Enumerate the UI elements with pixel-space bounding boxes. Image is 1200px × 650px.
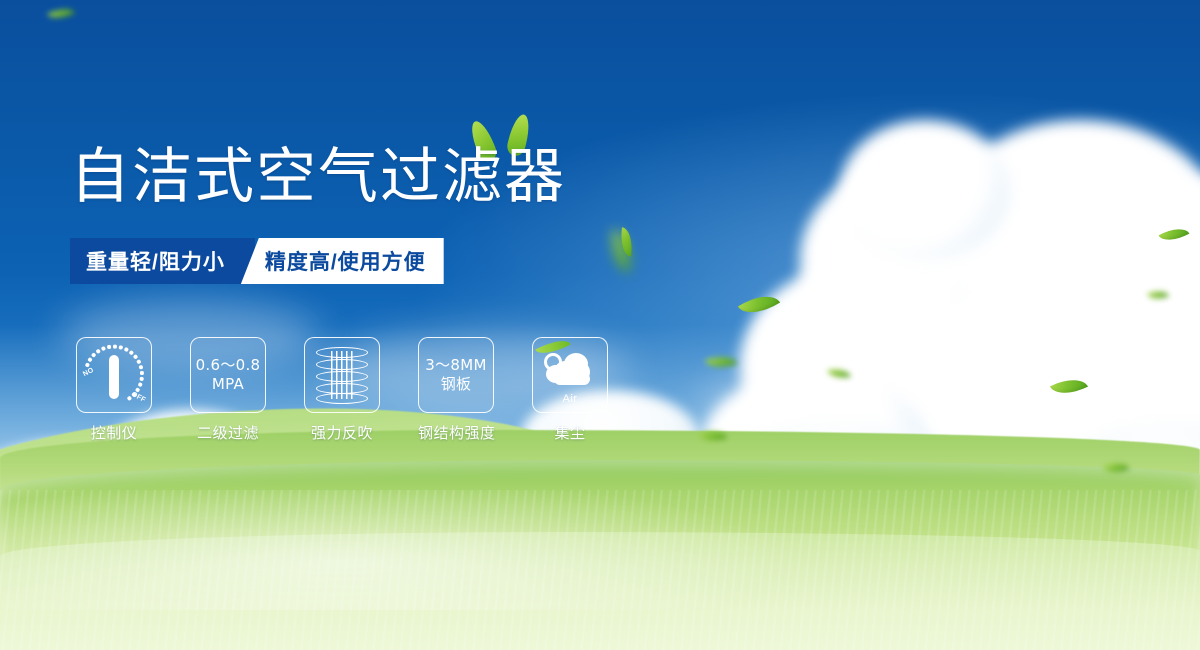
grass-highlight [0, 490, 1200, 610]
feature-item-controller[interactable]: NO OFF 控制仪 [76, 337, 152, 443]
pressure-value: 0.6～0.8 [196, 356, 261, 375]
steel-plate-text-icon: 3～8MM 钢板 [425, 356, 486, 394]
page-title: 自洁式空气过滤器 [70, 143, 566, 211]
feature-icon-box: NO OFF [76, 337, 152, 413]
air-label: Air [540, 393, 600, 405]
feature-icon-box: Air [532, 337, 608, 413]
dial-off-label: OFF [130, 391, 146, 404]
coil-filter-icon [314, 345, 370, 405]
feature-icon-row: NO OFF 控制仪 0.6～0.8 MPA 二级过滤 [76, 337, 608, 443]
pressure-unit: MPA [196, 375, 261, 394]
tag-weight-resistance: 重量轻/阻力小 [70, 238, 255, 284]
feature-label: 强力反吹 [304, 422, 380, 443]
feature-item-dust-collection[interactable]: Air 集尘 [532, 337, 608, 443]
feature-icon-box: 3～8MM 钢板 [418, 337, 494, 413]
feature-label: 控制仪 [76, 422, 152, 443]
tag-precision-usability: 精度高/使用方便 [241, 238, 444, 284]
dial-on-label: NO [82, 367, 95, 378]
steel-thickness: 3～8MM [425, 356, 486, 375]
feature-label: 二级过滤 [190, 422, 266, 443]
feature-item-backblow[interactable]: 强力反吹 [304, 337, 380, 443]
dial-needle [109, 355, 119, 399]
feature-item-two-stage-filter[interactable]: 0.6～0.8 MPA 二级过滤 [190, 337, 266, 443]
feature-icon-box: 0.6～0.8 MPA [190, 337, 266, 413]
control-dial-icon: NO OFF [82, 343, 146, 407]
product-hero-banner: 自洁式空气过滤器 重量轻/阻力小 精度高/使用方便 [0, 0, 1200, 650]
feature-label: 集尘 [532, 422, 608, 443]
air-cloud-icon: Air [540, 347, 600, 403]
feature-label: 钢结构强度 [418, 422, 494, 443]
steel-material: 钢板 [425, 375, 486, 394]
feature-tag-bar: 重量轻/阻力小 精度高/使用方便 [70, 238, 444, 284]
feature-item-steel-strength[interactable]: 3～8MM 钢板 钢结构强度 [418, 337, 494, 443]
pressure-text-icon: 0.6～0.8 MPA [196, 356, 261, 394]
feature-icon-box [304, 337, 380, 413]
